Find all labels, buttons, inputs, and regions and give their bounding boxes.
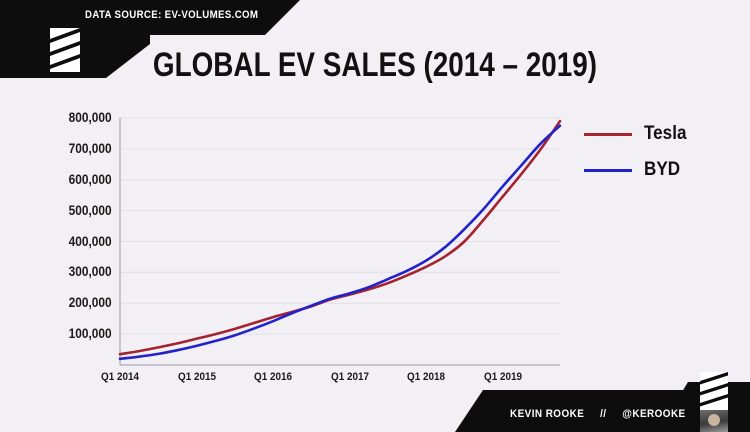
chart-legend: TeslaBYD <box>584 116 691 188</box>
x-tick-label: Q1 2018 <box>390 371 462 383</box>
y-tick-label: 600,000 <box>69 171 112 187</box>
footer-handle: @KEROOKE <box>622 408 685 420</box>
x-tick-label: Q1 2017 <box>314 371 386 383</box>
chart-series-lines <box>120 121 560 359</box>
data-source-label: DATA SOURCE: EV-VOLUMES.COM <box>85 9 258 21</box>
footer-author: KEVIN ROOKE <box>510 408 584 420</box>
legend-swatch-tesla <box>584 133 632 136</box>
series-line-tesla <box>120 121 560 354</box>
y-tick-label: 500,000 <box>69 202 112 218</box>
legend-item-byd[interactable]: BYD <box>584 152 691 188</box>
legend-label-byd: BYD <box>644 159 680 181</box>
author-avatar <box>700 410 728 432</box>
footer-credit: KEVIN ROOKE // @KEROOKE <box>510 408 686 420</box>
chart-gridlines <box>120 118 560 334</box>
y-tick-label: 400,000 <box>69 233 112 249</box>
y-tick-label: 700,000 <box>69 140 112 156</box>
footer-striped-parallelogram-logo-icon <box>700 372 728 410</box>
x-tick-label: Q1 2016 <box>237 371 309 383</box>
x-tick-label: Q1 2015 <box>161 371 233 383</box>
x-tick-label: Q1 2019 <box>467 371 539 383</box>
y-tick-label: 800,000 <box>69 109 112 125</box>
legend-label-tesla: Tesla <box>644 123 686 145</box>
y-tick-label: 100,000 <box>69 325 112 341</box>
x-tick-label: Q1 2014 <box>84 371 156 383</box>
y-tick-label: 200,000 <box>69 294 112 310</box>
footer-separator: // <box>600 408 606 420</box>
legend-swatch-byd <box>584 169 632 172</box>
y-tick-label: 300,000 <box>69 263 112 279</box>
series-line-byd <box>120 126 560 359</box>
legend-item-tesla[interactable]: Tesla <box>584 116 691 152</box>
striped-parallelogram-logo-icon <box>48 28 82 72</box>
